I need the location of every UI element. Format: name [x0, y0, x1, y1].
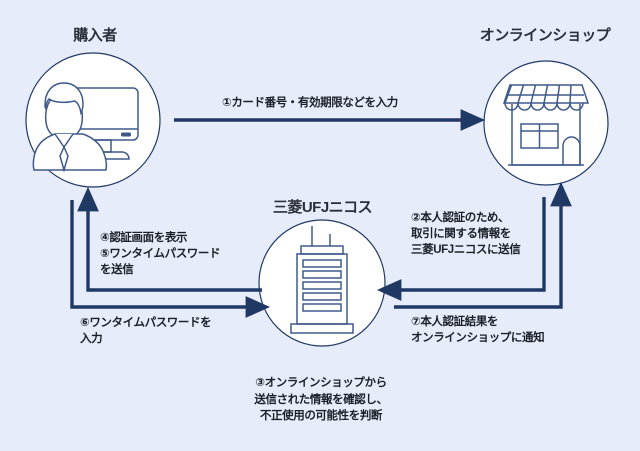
- shop-node-label: オンラインショップ: [455, 24, 635, 45]
- step-7-label: ⑦本人認証結果を オンラインショップに通知: [411, 314, 544, 346]
- nicos-node-label: 三菱UFJニコス: [245, 196, 400, 217]
- payment-authentication-flow-diagram: 購入者 オンラインショップ 三菱UFJニコス ①カード番号・有効期限などを入力 …: [0, 0, 640, 451]
- shop-node-icon: [484, 61, 608, 185]
- step-2-label: ②本人認証のため、 取引に関する情報を 三菱UFJニコスに送信: [411, 210, 520, 258]
- step-6-label: ⑥ワンタイムパスワードを 入力: [80, 315, 211, 347]
- nicos-node-caption: ③オンラインショップから 送信された情報を確認し、 不正使用の可能性を判断: [228, 375, 414, 425]
- nicos-node-icon: [259, 220, 385, 346]
- buyer-node-icon: [26, 53, 160, 187]
- step-4-5-label: ④認証画面を表示 ⑤ワンタイムパスワード を送信: [100, 230, 220, 278]
- buyer-node-label: 購入者: [10, 24, 180, 45]
- step-1-label: ①カード番号・有効期限などを入力: [222, 95, 398, 111]
